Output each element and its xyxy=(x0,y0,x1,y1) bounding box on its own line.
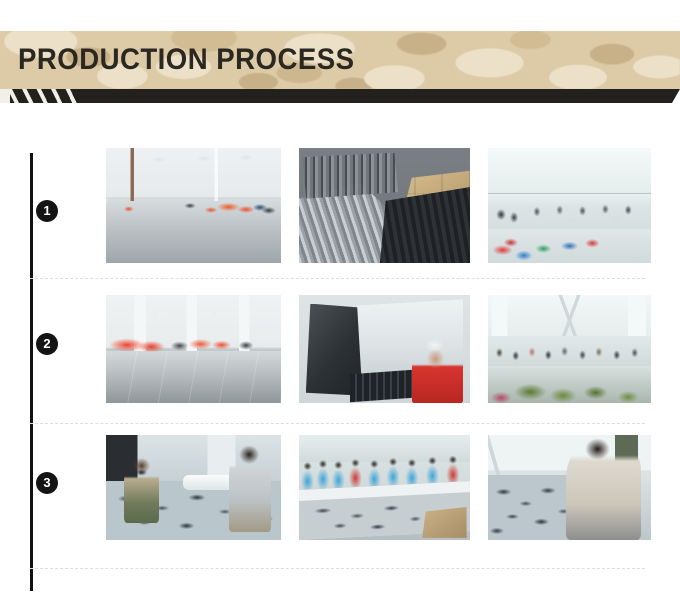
process-step-row: 1 xyxy=(0,148,680,288)
step-photo-group xyxy=(106,435,651,575)
photo-detail-cartons xyxy=(422,506,466,538)
process-photo[interactable] xyxy=(488,148,651,263)
process-photo[interactable] xyxy=(299,435,470,540)
process-photo[interactable] xyxy=(106,435,281,540)
stripe-bar xyxy=(0,89,680,103)
step-number-badge: 1 xyxy=(36,200,58,222)
page-title: PRODUCTION PROCESS xyxy=(18,31,354,89)
photo-detail-worker xyxy=(412,336,463,403)
header-accent-stripe xyxy=(0,89,680,105)
process-photo[interactable] xyxy=(106,295,281,403)
process-photo[interactable] xyxy=(299,148,470,263)
photo-scene-assembly-line xyxy=(299,435,470,540)
photo-scene-raw-materials xyxy=(299,148,470,263)
photo-detail-cartons xyxy=(391,169,470,220)
photo-detail-tubes xyxy=(302,153,398,199)
diagonal-hash-marks-icon xyxy=(0,89,78,103)
step-separator xyxy=(30,423,645,424)
process-step-row: 2 xyxy=(0,295,680,435)
photo-detail-red-bundles xyxy=(106,332,281,354)
photo-scene-warehouse-pillars xyxy=(106,295,281,403)
photo-detail-worker xyxy=(566,439,641,540)
process-photo[interactable] xyxy=(488,295,651,403)
process-steps-section: 1 2 xyxy=(0,105,680,607)
photo-scene-warehouse-interior xyxy=(106,148,281,263)
photo-detail-bins xyxy=(488,229,651,264)
photo-detail-blue-bin xyxy=(439,233,466,258)
photo-scene-sewing-workshop xyxy=(488,295,651,403)
photo-scene-fabric-cutting xyxy=(106,435,281,540)
page-header-banner: PRODUCTION PROCESS xyxy=(0,31,680,89)
photo-detail-worker-left xyxy=(124,458,159,523)
step-separator xyxy=(30,278,645,279)
photo-detail-worker-right xyxy=(229,446,271,532)
process-step-row: 3 xyxy=(0,435,680,575)
stripe-left-cap xyxy=(0,89,10,103)
photo-scene-single-worker xyxy=(488,435,651,540)
process-photo[interactable] xyxy=(299,295,470,403)
process-photo[interactable] xyxy=(488,435,651,540)
process-photo[interactable] xyxy=(106,148,281,263)
photo-scene-production-hall xyxy=(488,148,651,263)
step-separator xyxy=(30,568,645,569)
step-photo-group xyxy=(106,148,651,288)
step-photo-group xyxy=(106,295,651,435)
step-number-badge: 2 xyxy=(36,333,58,355)
photo-scene-machine-operator xyxy=(299,295,470,403)
step-number-badge: 3 xyxy=(36,472,58,494)
photo-detail-equipment xyxy=(106,192,281,217)
photo-detail-fabric-piles xyxy=(488,366,651,403)
